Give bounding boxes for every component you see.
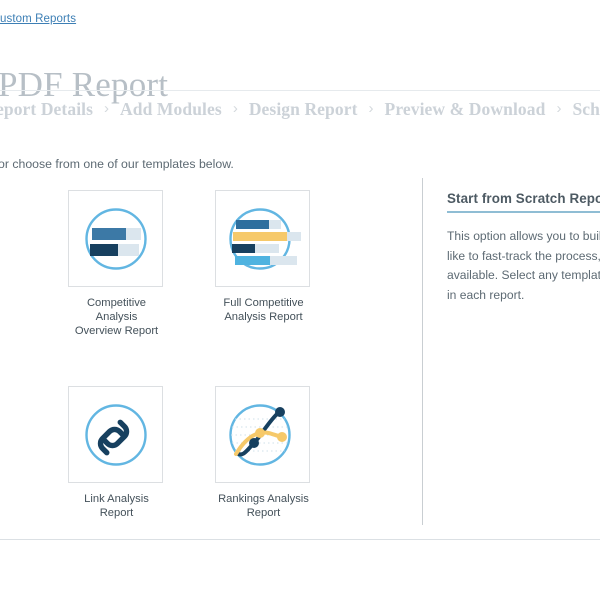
template-card-competitive-analysis-overview[interactable]: Competitive Analysis Overview Report — [68, 190, 165, 338]
template-label: Link Analysis Report — [68, 492, 165, 520]
app-page: ustom Reports PDF Report eport Details ›… — [0, 0, 600, 600]
intro-text: or choose from one of our templates belo… — [0, 157, 234, 171]
line-chart-icon — [223, 397, 303, 473]
title-divider — [0, 90, 600, 91]
template-row: Link Analysis Report — [68, 386, 388, 520]
template-label: Full Competitive Analysis Report — [215, 296, 312, 324]
template-thumbnail[interactable] — [215, 190, 310, 287]
wizard-step-schedule[interactable]: Schedul — [572, 99, 600, 120]
template-card-link-analysis[interactable]: Link Analysis Report — [68, 386, 165, 520]
main-columns: Competitive Analysis Overview Report — [0, 178, 600, 526]
footer-divider — [0, 539, 600, 540]
template-thumbnail[interactable] — [68, 190, 163, 287]
wizard-step-design-report[interactable]: Design Report — [249, 99, 358, 120]
template-gallery: Competitive Analysis Overview Report — [68, 190, 388, 520]
wizard-step-report-details[interactable]: eport Details — [0, 99, 93, 120]
column-divider — [422, 178, 423, 525]
template-label: Competitive Analysis Overview Report — [68, 296, 165, 338]
template-card-full-competitive-analysis[interactable]: Full Competitive Analysis Report — [215, 190, 312, 338]
wizard-step-preview-download[interactable]: Preview & Download — [385, 99, 546, 120]
template-card-rankings-analysis[interactable]: Rankings Analysis Report — [215, 386, 312, 520]
bar-chart-four-icon — [223, 201, 303, 277]
template-label: Rankings Analysis Report — [215, 492, 312, 520]
chevron-right-icon: › — [369, 100, 374, 117]
chevron-right-icon: › — [233, 100, 238, 117]
wizard-step-add-modules[interactable]: Add Modules — [120, 99, 222, 120]
chevron-right-icon: › — [104, 100, 109, 117]
bar-chart-two-icon — [79, 202, 153, 276]
panel-title: Start from Scratch Report — [447, 191, 600, 213]
panel-description: This option allows you to build your own… — [447, 227, 600, 305]
scratch-report-panel: Start from Scratch Report This option al… — [447, 190, 600, 305]
wizard-steps: eport Details › Add Modules › Design Rep… — [0, 99, 600, 120]
template-thumbnail[interactable] — [215, 386, 310, 483]
chain-link-icon — [79, 398, 153, 472]
template-row: Competitive Analysis Overview Report — [68, 190, 388, 338]
report-builder-frame: ustom Reports PDF Report eport Details ›… — [0, 0, 600, 600]
breadcrumb-custom-reports-link[interactable]: ustom Reports — [0, 13, 76, 25]
chevron-right-icon: › — [556, 100, 561, 117]
template-thumbnail[interactable] — [68, 386, 163, 483]
